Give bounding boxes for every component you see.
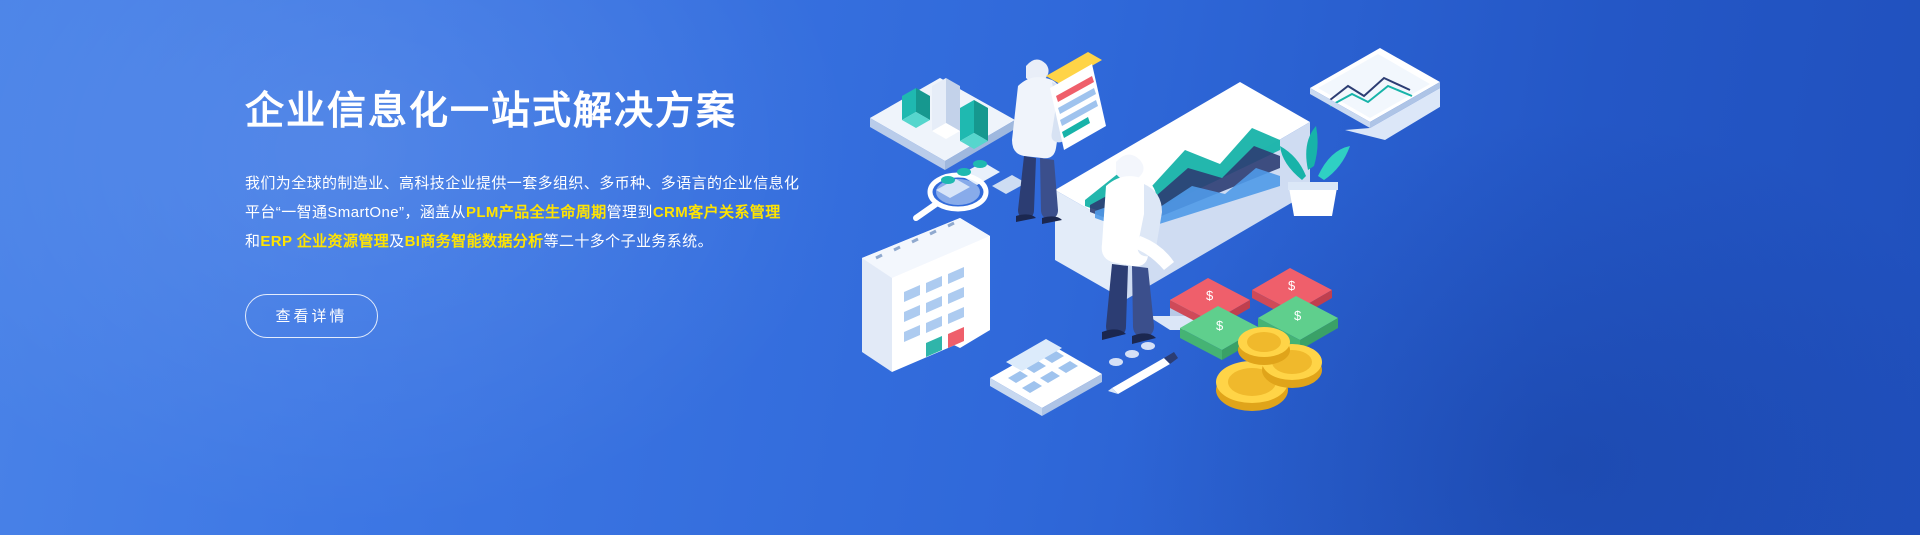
decorative-dots-2-icon <box>1109 342 1155 366</box>
hero-copy: 企业信息化一站式解决方案 我们为全球的制造业、高科技企业提供一套多组织、多币种、… <box>245 88 805 338</box>
page-title: 企业信息化一站式解决方案 <box>245 88 805 137</box>
laptop-line-chart-icon <box>1310 48 1440 140</box>
hero-banner: 企业信息化一站式解决方案 我们为全球的制造业、高科技企业提供一套多组织、多币种、… <box>0 0 1920 535</box>
svg-text:$: $ <box>1294 308 1302 323</box>
hero-illustration: $ $ $ $ <box>840 0 1440 535</box>
desk-calendar-icon <box>862 218 990 372</box>
bar-chart-tablet-icon <box>870 78 1015 170</box>
calculator-icon <box>990 339 1102 416</box>
description-text: 我们为全球的制造业、高科技企业提供一套多组织、多币种、多语言的企业信息化 <box>245 175 799 192</box>
svg-text:$: $ <box>1288 278 1296 293</box>
description-text: 平台“一智通SmartOne”，涵盖从 <box>245 204 466 221</box>
description-text: 等二十多个子业务系统。 <box>544 233 713 250</box>
svg-text:$: $ <box>1216 318 1224 333</box>
description-text: 和 <box>245 233 260 250</box>
highlight-erp: ERP 企业资源管理 <box>260 233 389 250</box>
description-line-2: 平台“一智通SmartOne”，涵盖从PLM产品全生命周期管理到CRM客户关系管… <box>245 198 805 227</box>
svg-text:$: $ <box>1206 288 1214 303</box>
description-text: 及 <box>389 233 404 250</box>
view-details-button[interactable]: 查看详情 <box>245 294 378 338</box>
description-line-3: 和ERP 企业资源管理及BI商务智能数据分析等二十多个子业务系统。 <box>245 227 805 256</box>
hero-description: 我们为全球的制造业、高科技企业提供一套多组织、多币种、多语言的企业信息化 平台“… <box>245 169 805 256</box>
description-line-1: 我们为全球的制造业、高科技企业提供一套多组织、多币种、多语言的企业信息化 <box>245 169 805 198</box>
highlight-plm: PLM产品全生命周期 <box>466 204 607 221</box>
highlight-crm: CRM客户关系管理 <box>653 204 781 221</box>
highlight-bi: BI商务智能数据分析 <box>405 233 544 250</box>
description-text: 管理到 <box>607 204 653 221</box>
